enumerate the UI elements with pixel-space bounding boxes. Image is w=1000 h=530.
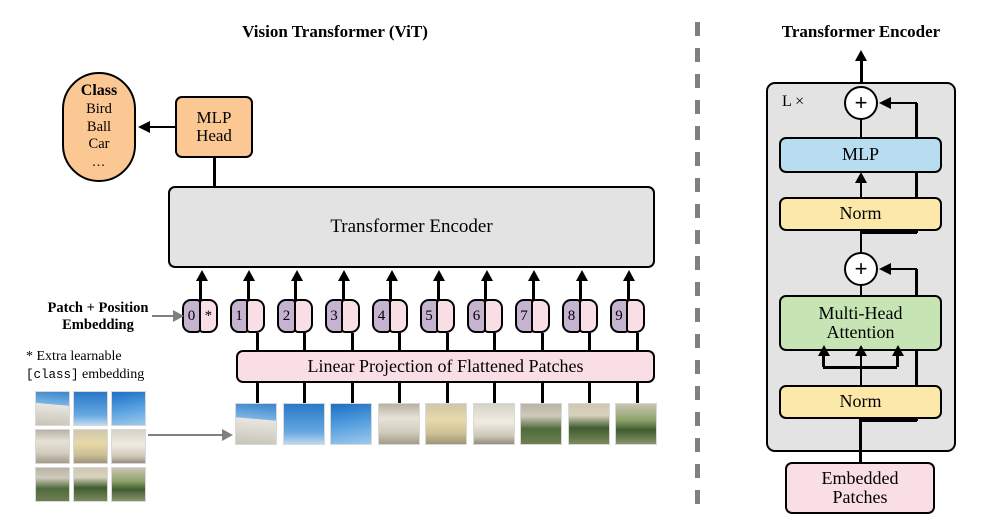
source-patch-thumb [112,430,145,463]
source-patch-thumb [74,468,107,501]
qkv-arrow-v [892,345,904,356]
qkv-stem-center [860,355,863,385]
token-capsule-4: 4 [372,299,408,333]
flattened-patch-image [521,404,561,444]
norm1-to-mlp-line [860,182,863,198]
token-patch-embedding [294,299,313,333]
encoder-output-arrowhead [855,50,867,61]
patch-to-projection-line [493,382,496,404]
flattened-patch-image [379,404,419,444]
embedded-to-norm-line [859,418,862,464]
patch-to-projection-line [541,382,544,404]
class-item-ball: Ball [87,119,111,136]
extra-note-mono: [class] [26,368,79,382]
token-patch-embedding [436,299,455,333]
mlphead-to-class-line [150,126,176,129]
norm-upper-label: Norm [840,204,882,223]
patch-to-projection-line [303,382,306,404]
skip-top-arrowhead [879,97,891,109]
source-patch-thumb [74,430,107,463]
flattened-patch-image [474,404,514,444]
projection-to-token-line [541,333,544,351]
mha-label-line1: Multi-Head [819,304,903,323]
embedding-label-arrowhead [173,310,184,322]
token-capsule-6: 6 [467,299,503,333]
token-patch-embedding [246,299,265,333]
projection-to-token-line [303,333,306,351]
extra-note-prefix: * Extra learnable [26,349,122,364]
linear-projection-label: Linear Projection of Flattened Patches [308,357,584,376]
projection-to-token-line [588,333,591,351]
class-item-bird: Bird [86,101,112,118]
mlp-head-box: MLP Head [175,96,253,158]
token-to-encoder-line [627,280,630,300]
patch-position-embedding-label: Patch + Position Embedding [22,300,174,335]
norm-lower-label: Norm [840,392,882,411]
token-capsule-7: 7 [515,299,551,333]
token-patch-embedding [579,299,598,333]
residual-add-mid-symbol: + [855,258,868,280]
token-patch-embedding: * [199,299,218,333]
token-patch-embedding [341,299,360,333]
patch-to-projection-line [256,382,259,404]
token-capsule-1: 1 [230,299,266,333]
class-heading: Class [81,83,117,100]
mlphead-to-class-arrowhead [138,121,150,133]
panel-divider [695,22,700,510]
token-to-encoder-line [247,280,250,300]
mlp-head-line2: Head [196,127,232,145]
token-capsule-0: 0* [182,299,218,333]
norm1-to-mlp-arrowhead [855,172,867,183]
grid-to-sequence-arrowhead [222,429,233,441]
projection-to-token-line [636,333,639,351]
embedded-patches-box: Embedded Patches [785,462,935,514]
extra-learnable-note: * Extra learnable [class] embedding [26,348,176,383]
qkv-arrow-k [855,345,867,356]
skip-top-horizontal [890,102,917,105]
transformer-encoder-bar: Transformer Encoder [168,186,655,268]
flattened-patch-image [236,404,276,444]
token-to-encoder-line [437,280,440,300]
flattened-patch-image [616,404,656,444]
projection-to-token-line [446,333,449,351]
flattened-patch-image [331,404,371,444]
flattened-patch-image [569,404,609,444]
token-patch-embedding [389,299,408,333]
token-capsule-9: 9 [610,299,646,333]
source-patch-thumb [74,392,107,425]
embedded-patches-line2: Patches [833,488,888,507]
mlp-head-line1: MLP [197,109,232,127]
projection-to-token-line [351,333,354,351]
source-patch-thumb [36,392,69,425]
token-capsule-2: 2 [277,299,313,333]
linear-projection-bar: Linear Projection of Flattened Patches [236,350,655,383]
token-capsule-5: 5 [420,299,456,333]
embedded-patches-line1: Embedded [822,469,899,488]
qkv-stem-right [896,355,899,367]
skip-mid-bottom-horizontal [860,419,917,422]
token-patch-embedding [626,299,645,333]
mlp-block-label: MLP [842,145,879,164]
token-to-encoder-line [389,280,392,300]
mlp-block: MLP [779,137,942,173]
embedding-label-line1: Patch + Position [48,300,149,316]
projection-to-token-line [493,333,496,351]
source-patch-thumb [112,392,145,425]
grid-to-sequence-line [148,434,223,436]
patch-to-projection-line [636,382,639,404]
qkv-stem-left [822,355,825,367]
token-patch-embedding [484,299,503,333]
norm-block-upper: Norm [779,197,942,231]
embedding-label-line2: Embedding [62,317,134,333]
transformer-encoder-label: Transformer Encoder [330,217,492,237]
class-output-capsule: Class Bird Ball Car ... [62,72,136,182]
mlp-to-add-line [860,119,863,138]
residual-add-top-symbol: + [855,92,868,114]
class-ellipsis: ... [92,156,106,171]
token-to-encoder-line [294,280,297,300]
skip-top-bottom-horizontal [860,231,917,234]
token-to-encoder-line [342,280,345,300]
right-panel-title: Transformer Encoder [761,22,961,42]
source-patch-thumb [112,468,145,501]
repeat-count-label: L × [782,93,804,111]
flattened-patch-image [426,404,466,444]
skip-mid-arrowhead [879,263,891,275]
norm-block-lower: Norm [779,385,942,419]
flattened-patch-image [284,404,324,444]
token-to-encoder-line [199,280,202,300]
projection-to-token-line [256,333,259,351]
source-patch-thumb [36,430,69,463]
source-patch-thumb [36,468,69,501]
embedding-label-arrow-line [152,315,174,317]
token-to-encoder-line [532,280,535,300]
qkv-arrow-q [818,345,830,356]
token-capsule-8: 8 [562,299,598,333]
token-patch-embedding [531,299,550,333]
residual-add-mid: + [844,252,878,286]
patch-to-projection-line [588,382,591,404]
token-to-encoder-line [579,280,582,300]
mha-label-line2: Attention [827,323,895,342]
multi-head-attention-block: Multi-Head Attention [779,295,942,351]
token-to-encoder-line [484,280,487,300]
skip-mid-horizontal [890,268,917,271]
patch-to-projection-line [351,382,354,404]
mlphead-to-encoder-line [213,157,216,188]
left-panel-title: Vision Transformer (ViT) [195,22,475,42]
projection-to-token-line [398,333,401,351]
extra-note-suffix: embedding [79,367,145,382]
class-item-car: Car [89,136,110,153]
patch-to-projection-line [398,382,401,404]
token-capsule-3: 3 [325,299,361,333]
residual-add-top: + [844,86,878,120]
patch-to-projection-line [446,382,449,404]
